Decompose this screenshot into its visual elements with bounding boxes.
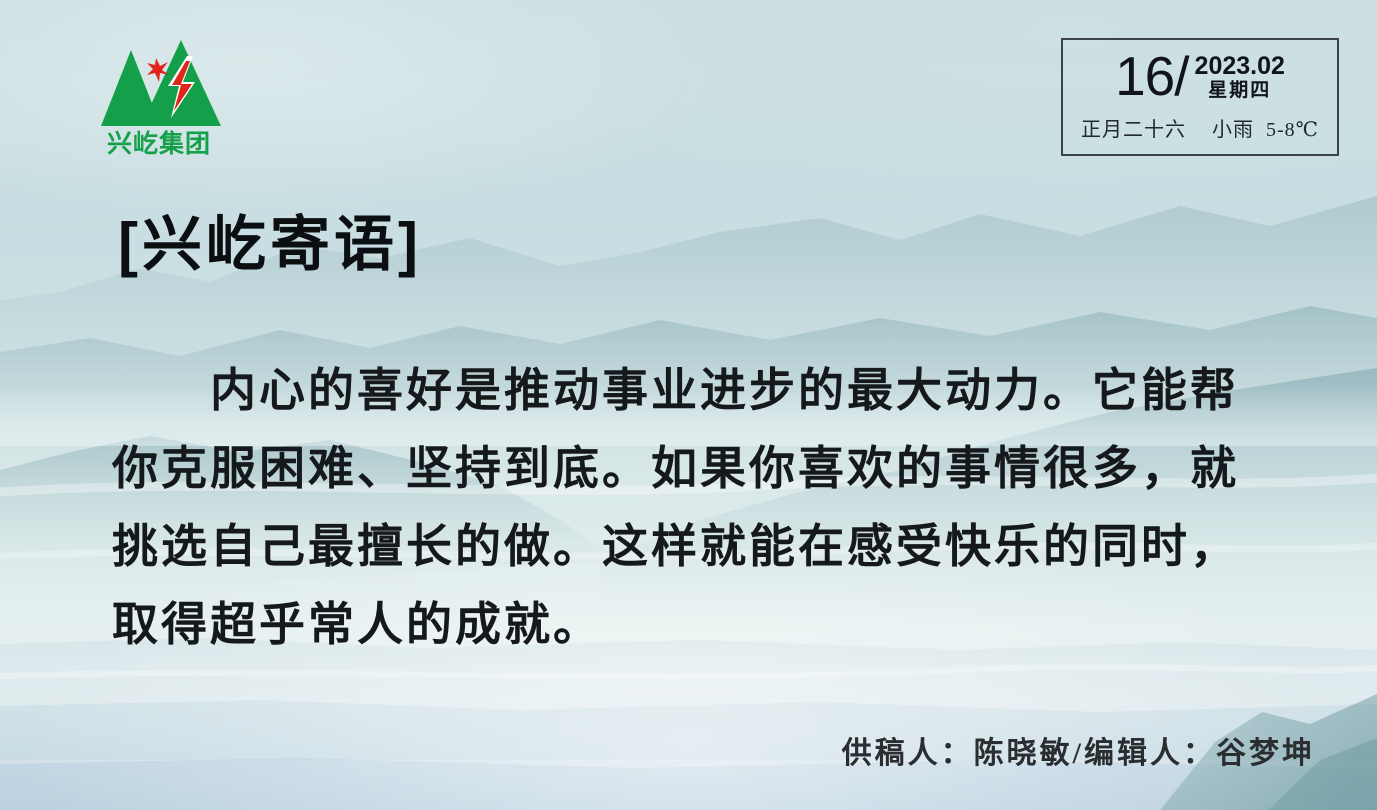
logo: 兴屹集团 [95, 38, 225, 163]
body-line: 取得超乎常人的成就。 [112, 586, 1292, 664]
body-line: 你克服困难、坚持到底。如果你喜欢的事情很多，就 [112, 430, 1292, 508]
logo-mountain-icon [95, 38, 223, 130]
poster-canvas: 兴屹集团 16/ 2023.02 星期四 正月二十六 小雨 5-8℃ [兴屹寄语… [0, 0, 1377, 810]
body-line: 挑选自己最擅长的做。这样就能在感受快乐的同时， [112, 508, 1292, 586]
date-card-right-stack: 2023.02 星期四 [1195, 51, 1285, 100]
logo-wordmark: 兴屹集团 [95, 132, 223, 157]
body-line: 内心的喜好是推动事业进步的最大动力。它能帮 [112, 352, 1292, 430]
date-card-bottom-row: 正月二十六 小雨 5-8℃ [1063, 113, 1337, 142]
date-day: 16/ [1115, 49, 1188, 104]
body-text: 内心的喜好是推动事业进步的最大动力。它能帮 你克服困难、坚持到底。如果你喜欢的事… [112, 352, 1292, 664]
contributor-credit: 供稿人：陈晓敏/编辑人：谷梦坤 [842, 728, 1315, 772]
page-title: [兴屹寄语] [118, 212, 422, 278]
date-weekday: 星期四 [1208, 81, 1271, 101]
date-card-top-row: 16/ 2023.02 星期四 [1063, 46, 1337, 106]
weather-group: 小雨 5-8℃ [1212, 113, 1319, 142]
weather-temperature: 5-8℃ [1266, 117, 1319, 142]
lunar-date: 正月二十六 [1081, 113, 1186, 142]
date-year-month: 2023.02 [1195, 53, 1285, 79]
weather-condition: 小雨 [1212, 113, 1254, 142]
date-card: 16/ 2023.02 星期四 正月二十六 小雨 5-8℃ [1061, 38, 1339, 156]
